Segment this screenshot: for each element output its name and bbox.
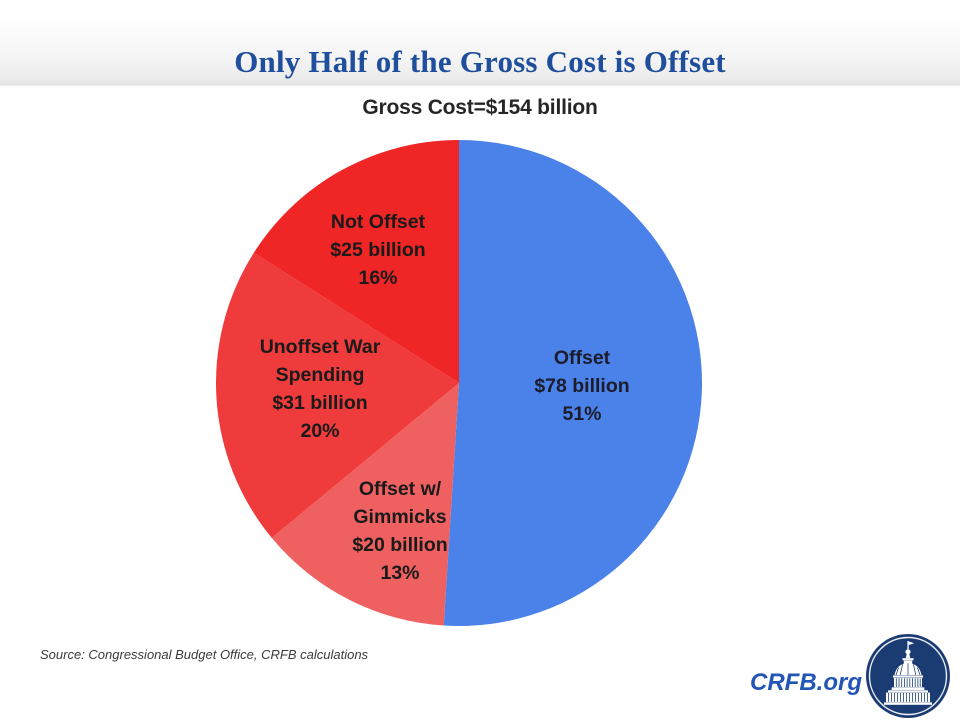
capitol-dome-logo[interactable] (864, 632, 952, 720)
slide-canvas: Only Half of the Gross Cost is Offset Gr… (0, 0, 960, 720)
page-title: Only Half of the Gross Cost is Offset (0, 44, 960, 80)
pie-chart-svg (216, 140, 702, 626)
pie-slice[interactable] (444, 140, 702, 626)
brand-text[interactable]: CRFB.org (750, 669, 862, 697)
pie-slice-group (216, 140, 702, 626)
pie-chart (216, 140, 702, 626)
header-divider (0, 84, 960, 87)
chart-subtitle: Gross Cost=$154 billion (0, 96, 960, 120)
capitol-dome-logo-svg (864, 632, 952, 720)
source-note: Source: Congressional Budget Office, CRF… (40, 647, 368, 662)
